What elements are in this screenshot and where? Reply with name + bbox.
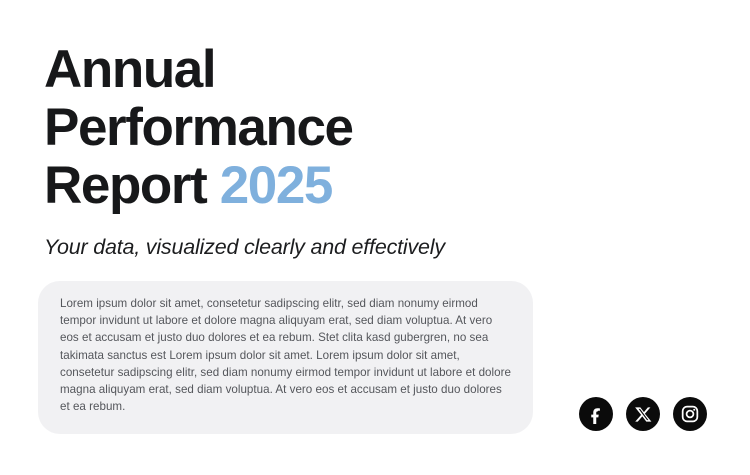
instagram-icon[interactable] — [673, 397, 707, 431]
headline-line-1: Annual — [44, 41, 704, 99]
page-title: Annual Performance Report 2025 — [44, 41, 704, 215]
headline-line-3-prefix: Report — [44, 156, 220, 215]
body-text-card: Lorem ipsum dolor sit amet, consetetur s… — [38, 281, 533, 434]
x-twitter-icon[interactable] — [626, 397, 660, 431]
headline-line-3: Report 2025 — [44, 157, 704, 215]
facebook-icon[interactable] — [579, 397, 613, 431]
headline-line-2: Performance — [44, 99, 704, 157]
page-subtitle: Your data, visualized clearly and effect… — [44, 234, 445, 260]
body-paragraph: Lorem ipsum dolor sit amet, consetetur s… — [60, 295, 511, 415]
report-hero-page: Annual Performance Report 2025 Your data… — [0, 0, 750, 475]
headline-year: 2025 — [220, 156, 332, 215]
social-links — [579, 397, 707, 431]
